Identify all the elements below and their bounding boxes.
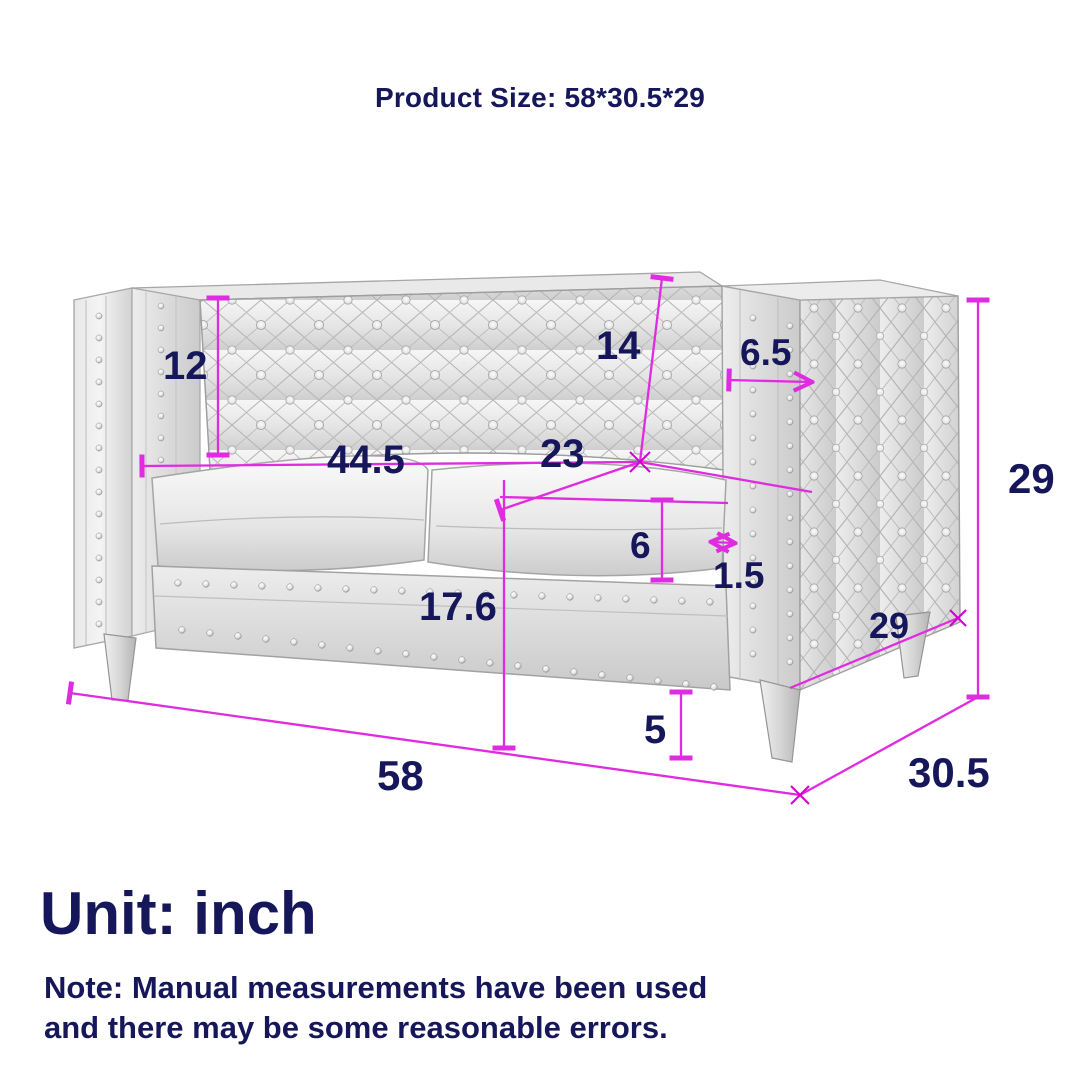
dimension-label-6: 6 xyxy=(630,527,651,564)
note-line-2: and there may be some reasonable errors. xyxy=(44,1008,864,1048)
nailhead-row-right-b xyxy=(787,323,793,665)
dimline-58 xyxy=(70,693,800,795)
product-dimension-diagram: Product Size: 58*30.5*29 xyxy=(0,0,1080,1080)
dimension-label-1-5: 1.5 xyxy=(713,557,764,594)
unit-label: Unit: inch xyxy=(40,884,317,944)
dimension-label-5: 5 xyxy=(644,710,666,750)
dimension-label-14: 14 xyxy=(596,326,641,366)
leg-rear-left xyxy=(104,634,136,700)
dimension-label-23: 23 xyxy=(540,434,585,474)
dimension-label-44-5: 44.5 xyxy=(327,440,405,480)
dimension-label-29-height: 29 xyxy=(1008,458,1055,500)
measurement-note: Note: Manual measurements have been used… xyxy=(44,968,864,1047)
dimension-label-29-depth: 29 xyxy=(869,608,909,644)
dimension-label-6-5: 6.5 xyxy=(740,334,791,371)
dimension-label-17-6: 17.6 xyxy=(419,587,497,627)
nailhead-row-left-outer xyxy=(96,313,102,627)
dimension-label-58: 58 xyxy=(377,755,424,797)
dimension-label-30-5: 30.5 xyxy=(908,752,990,794)
leg-front-right xyxy=(760,680,800,762)
note-line-1: Note: Manual measurements have been used xyxy=(44,968,864,1008)
dimension-label-12: 12 xyxy=(163,346,208,386)
back-panel xyxy=(200,286,724,470)
dimline-1-5 xyxy=(713,542,733,543)
